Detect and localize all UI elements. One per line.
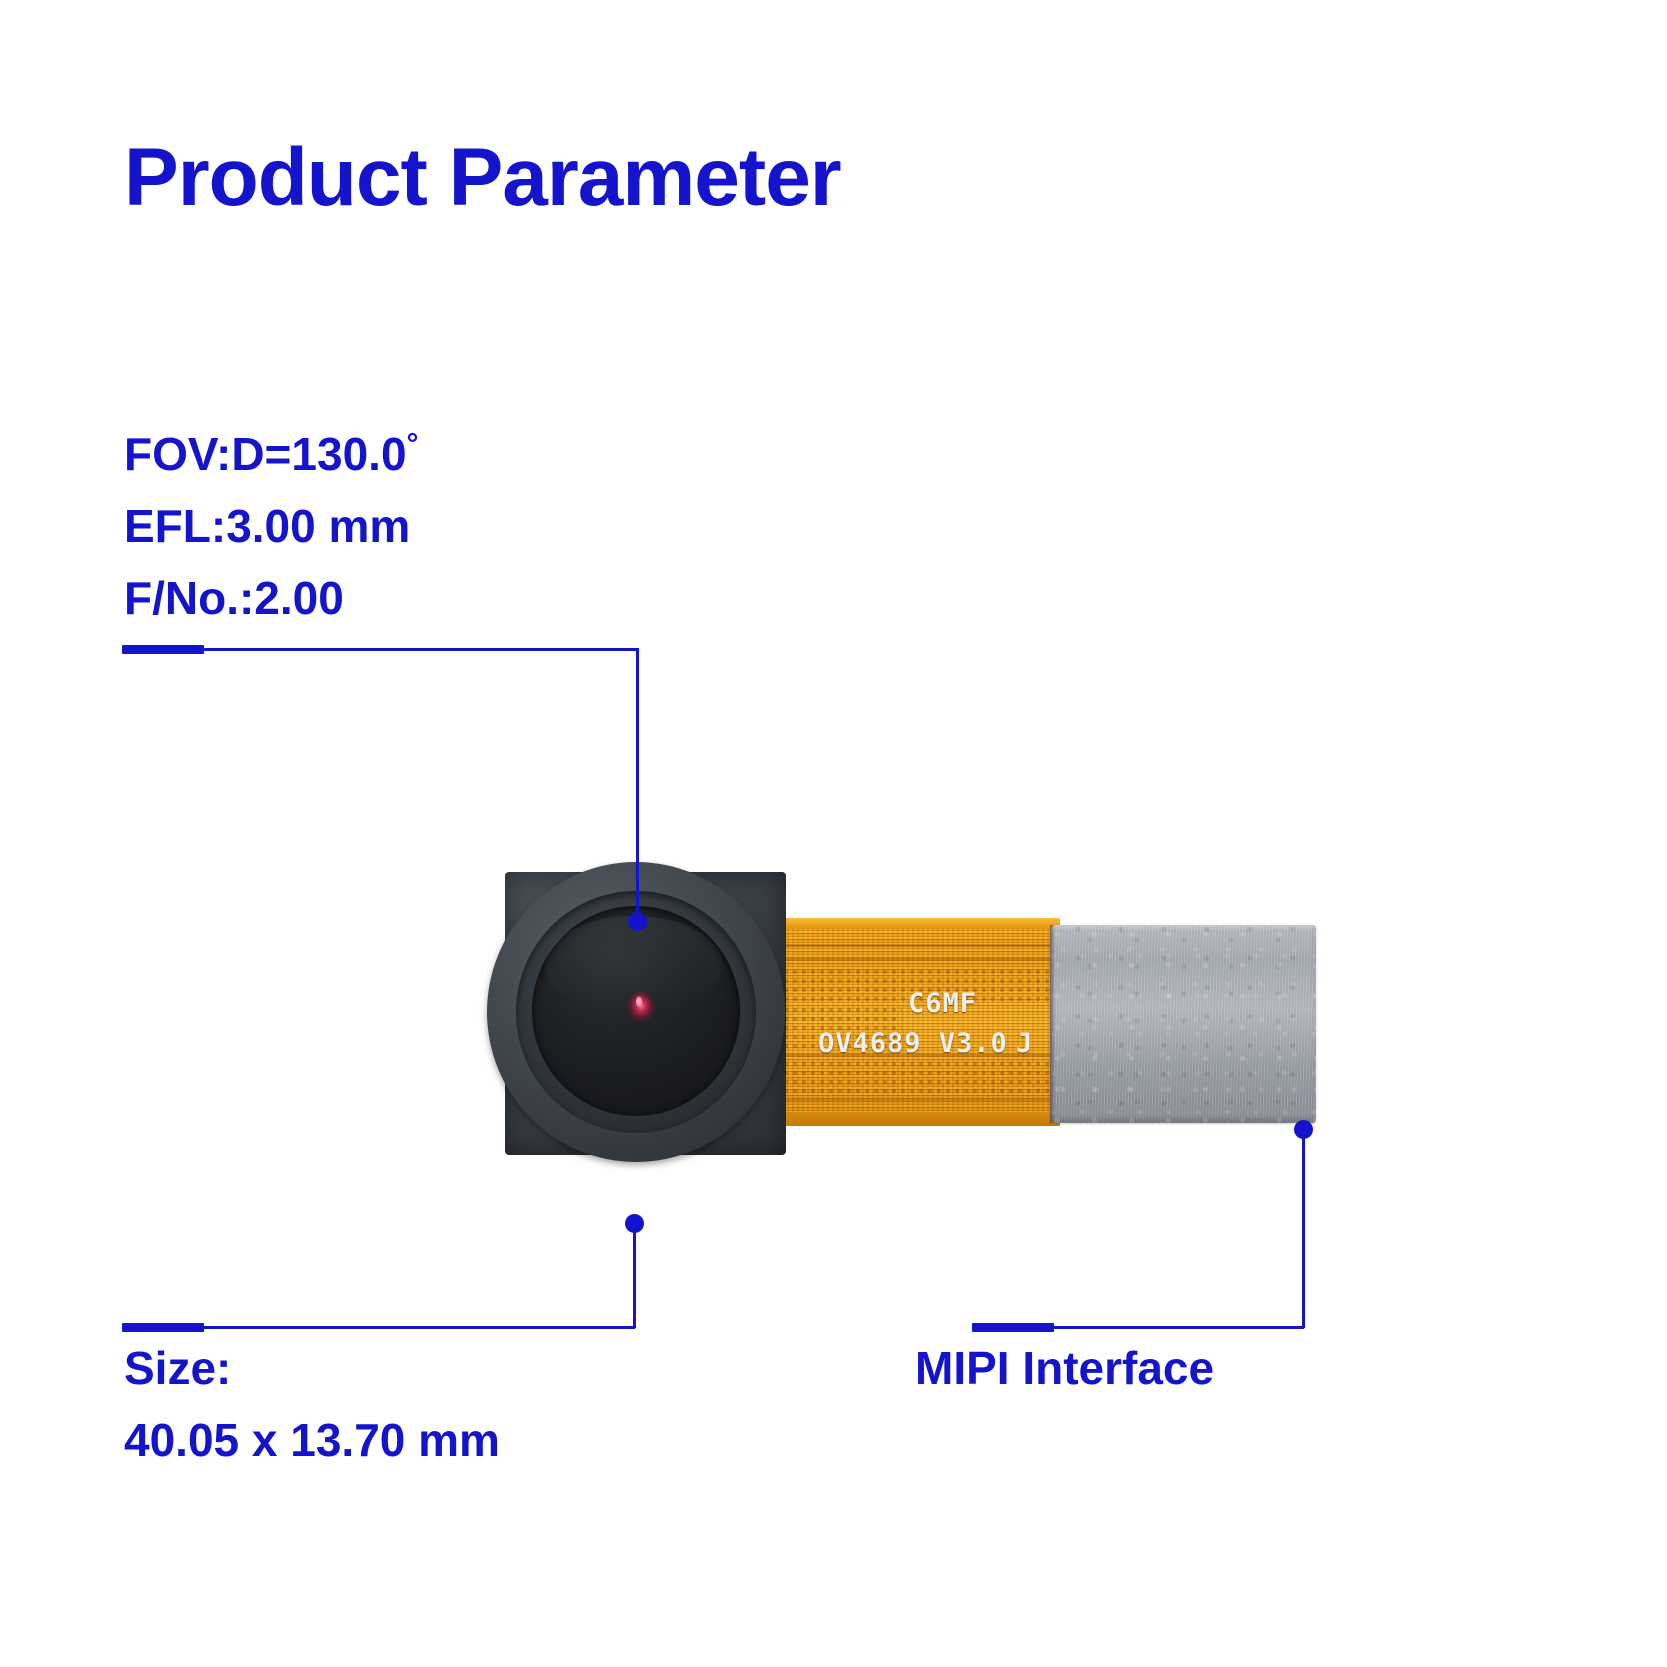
- silkscreen-line-3: J: [1016, 1028, 1033, 1059]
- fov-callout-leader-horizontal: [198, 648, 639, 651]
- mipi-callout-label: MIPI Interface: [915, 1332, 1214, 1404]
- fpc-top-edge: [782, 918, 1060, 929]
- mipi-callout-tick: [972, 1323, 1054, 1332]
- mipi-callout-leader-horizontal: [1048, 1326, 1304, 1329]
- size-callout-leader-horizontal: [198, 1326, 635, 1329]
- silkscreen-line-1: C6MF: [908, 988, 977, 1019]
- mipi-shield-texture: [1050, 925, 1316, 1123]
- size-callout-leader-vertical: [633, 1222, 636, 1328]
- fpc-trace-band: [782, 958, 1060, 961]
- fpc-trace-band: [782, 944, 1060, 947]
- mipi-label: MIPI Interface: [915, 1332, 1214, 1404]
- fov-callout-endpoint-dot: [628, 912, 647, 931]
- fpc-bottom-edge: [782, 1112, 1060, 1126]
- silkscreen-line-2: OV4689 V3.0: [818, 1028, 1008, 1059]
- mipi-callout-leader-vertical: [1302, 1128, 1305, 1328]
- mipi-shield-seam: [1050, 925, 1055, 1123]
- size-label: Size:: [124, 1332, 500, 1404]
- fov-callout-tick: [122, 645, 204, 654]
- product-parameter-page: Product Parameter FOV:D=130.0° EFL:3.00 …: [0, 0, 1667, 1667]
- fpc-trace-band: [782, 1098, 1060, 1101]
- fpc-mesh-pattern: [782, 1060, 1060, 1098]
- size-value: 40.05 x 13.70 mm: [124, 1404, 500, 1476]
- fov-callout-leader-vertical: [636, 648, 639, 926]
- ir-filter-flare-core: [636, 996, 642, 1007]
- size-callout-label: Size: 40.05 x 13.70 mm: [124, 1332, 500, 1476]
- size-callout-tick: [122, 1323, 204, 1332]
